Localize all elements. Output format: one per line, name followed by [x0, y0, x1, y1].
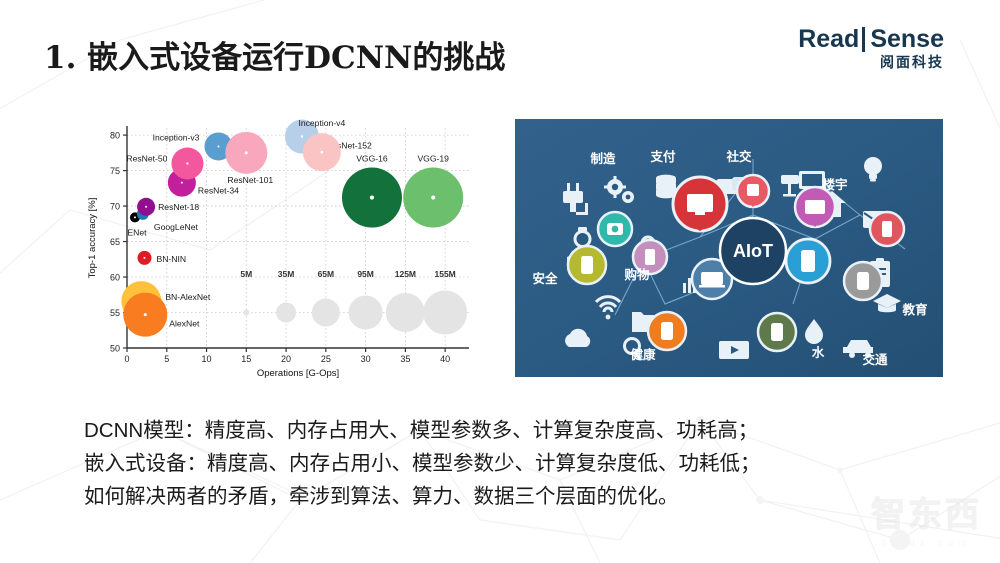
- svg-text:65: 65: [110, 237, 120, 247]
- aiot-center-node: AIoT: [720, 218, 786, 284]
- svg-text:AlexNet: AlexNet: [169, 319, 200, 329]
- aiot-label: 购物: [624, 267, 650, 282]
- svg-text:VGG-19: VGG-19: [417, 154, 449, 164]
- svg-text:40: 40: [440, 354, 450, 364]
- svg-text:75: 75: [110, 166, 120, 176]
- logo-chinese-name: 阅面科技: [798, 55, 944, 69]
- svg-text:VGG-16: VGG-16: [356, 154, 388, 164]
- svg-text:ResNet-50: ResNet-50: [126, 153, 167, 163]
- logo-word-read: Read: [798, 27, 862, 52]
- body-text-block: DCNN模型：精度高、内存占用大、模型参数多、计算复杂度高、功耗高； 嵌入式设备…: [84, 414, 914, 513]
- body-line-2: 嵌入式设备：精度高、内存占用小、模型参数少、计算复杂度低、功耗低；: [84, 447, 914, 480]
- aiot-label: 教育: [901, 302, 928, 317]
- accuracy-vs-operations-chart: 5M35M65M95M125M155M ENetGoogLeNetResNet-…: [85, 118, 475, 388]
- svg-text:BN-NIN: BN-NIN: [156, 254, 186, 264]
- svg-text:20: 20: [281, 354, 291, 364]
- chart-axis-titles: Operations [G-Ops]Top-1 accuracy [%]: [87, 198, 339, 379]
- svg-text:95M: 95M: [357, 269, 374, 279]
- svg-text:125M: 125M: [395, 269, 416, 279]
- svg-text:Inception-v3: Inception-v3: [153, 132, 200, 142]
- chart-svg: 5M35M65M95M125M155M ENetGoogLeNetResNet-…: [85, 118, 475, 388]
- svg-text:10: 10: [202, 354, 212, 364]
- svg-text:30: 30: [361, 354, 371, 364]
- aiot-label: 水: [812, 345, 825, 360]
- aiot-label: 楼宇: [822, 177, 847, 192]
- svg-text:Inception-v4: Inception-v4: [298, 118, 345, 128]
- aiot-center-label: AIoT: [733, 241, 773, 261]
- svg-text:50: 50: [110, 344, 120, 354]
- watermark-main-text: 智东西: [871, 487, 982, 536]
- page-title: 1. 嵌入式设备运行DCNN的挑战: [44, 32, 505, 77]
- svg-text:0: 0: [124, 354, 129, 364]
- svg-text:70: 70: [110, 202, 120, 212]
- svg-text:ResNet-34: ResNet-34: [198, 186, 239, 196]
- aiot-network-illustration: AIoT 制造支付社交楼宇安全购物健康水交通教育: [515, 119, 943, 377]
- aiot-label: 支付: [649, 149, 676, 164]
- svg-text:ResNet-101: ResNet-101: [227, 175, 273, 185]
- svg-text:ResNet-18: ResNet-18: [158, 202, 199, 212]
- aiot-label: 安全: [532, 271, 558, 286]
- svg-text:ENet: ENet: [127, 227, 147, 237]
- body-line-3: 如何解决两者的矛盾，牵涉到算法、算力、数据三个层面的优化。: [84, 480, 914, 513]
- body-line-1: DCNN模型：精度高、内存占用大、模型参数多、计算复杂度高、功耗高；: [84, 414, 914, 447]
- svg-text:35M: 35M: [278, 269, 295, 279]
- svg-text:BN-AlexNet: BN-AlexNet: [165, 292, 211, 302]
- chart-size-legend: 5M35M65M95M125M155M: [240, 269, 467, 334]
- svg-text:155M: 155M: [435, 269, 456, 279]
- aiot-svg: AIoT 制造支付社交楼宇安全购物健康水交通教育: [515, 119, 943, 377]
- svg-text:65M: 65M: [318, 269, 335, 279]
- svg-text:55: 55: [110, 308, 120, 318]
- svg-text:35: 35: [400, 354, 410, 364]
- logo-word-sense: Sense: [862, 27, 944, 52]
- aiot-label: 制造: [590, 151, 616, 166]
- svg-text:15: 15: [241, 354, 251, 364]
- svg-text:5: 5: [164, 354, 169, 364]
- svg-text:Top-1 accuracy [%]: Top-1 accuracy [%]: [87, 198, 98, 279]
- svg-text:GoogLeNet: GoogLeNet: [154, 222, 199, 232]
- aiot-label: 交通: [862, 352, 888, 367]
- watermark: 智东西 zhidx.com: [871, 487, 982, 549]
- svg-text:Operations [G-Ops]: Operations [G-Ops]: [257, 368, 339, 379]
- slide-canvas: 1. 嵌入式设备运行DCNN的挑战 Read Sense 阅面科技 5M35M6…: [0, 0, 1000, 563]
- svg-text:80: 80: [110, 131, 120, 141]
- svg-text:60: 60: [110, 273, 120, 283]
- aiot-label: 社交: [725, 149, 752, 164]
- watermark-sub-text: zhidx.com: [871, 538, 982, 549]
- brand-logo: Read Sense 阅面科技: [798, 27, 944, 69]
- aiot-label: 健康: [630, 347, 656, 362]
- svg-text:25: 25: [321, 354, 331, 364]
- svg-text:5M: 5M: [240, 269, 252, 279]
